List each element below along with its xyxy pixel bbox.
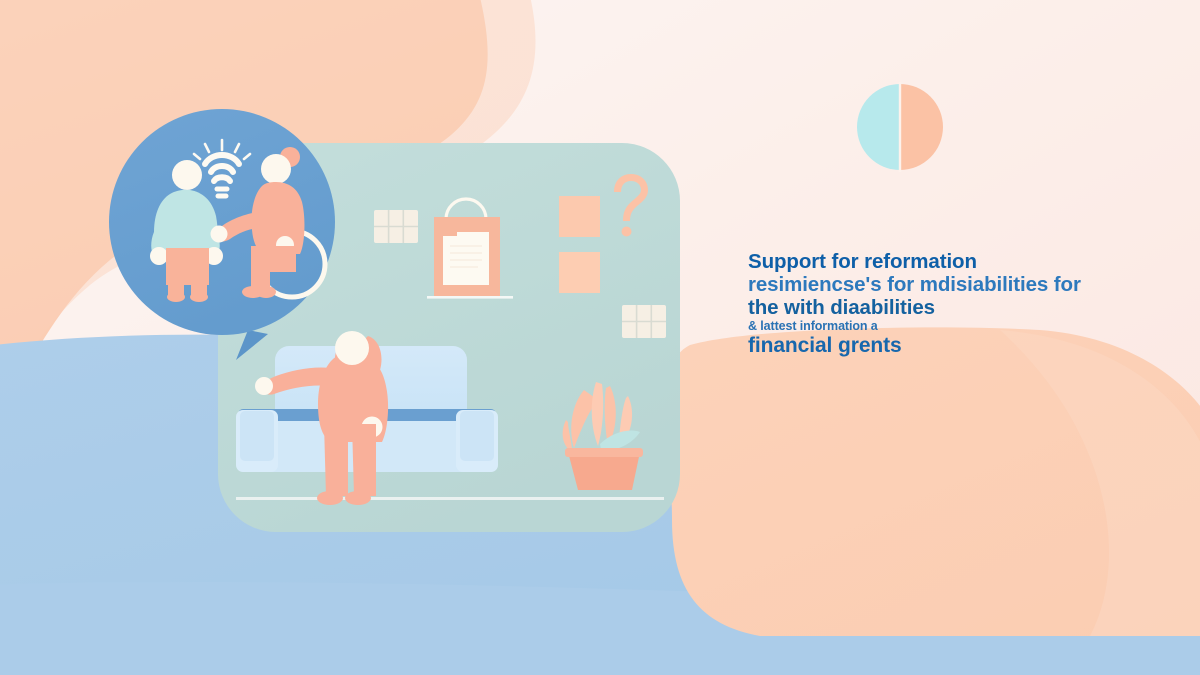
half-half-pie-chart — [857, 82, 943, 172]
headline-line-4: & lattest information a — [748, 320, 1128, 333]
headline-line-2: resimiencse's for mdisiabilities for — [748, 275, 1128, 296]
illustration-canvas: Support for reformation resimiencse's fo… — [0, 0, 1200, 675]
pie-slice-right — [900, 84, 943, 170]
headline-text-block: Support for reformation resimiencse's fo… — [748, 252, 1128, 356]
headline-line-1: Support for reformation — [748, 252, 1128, 273]
pie-slice-left — [857, 84, 900, 170]
headline-line-5: financial grents — [748, 335, 1128, 356]
headline-line-3: the with diaabilities — [748, 298, 1128, 319]
